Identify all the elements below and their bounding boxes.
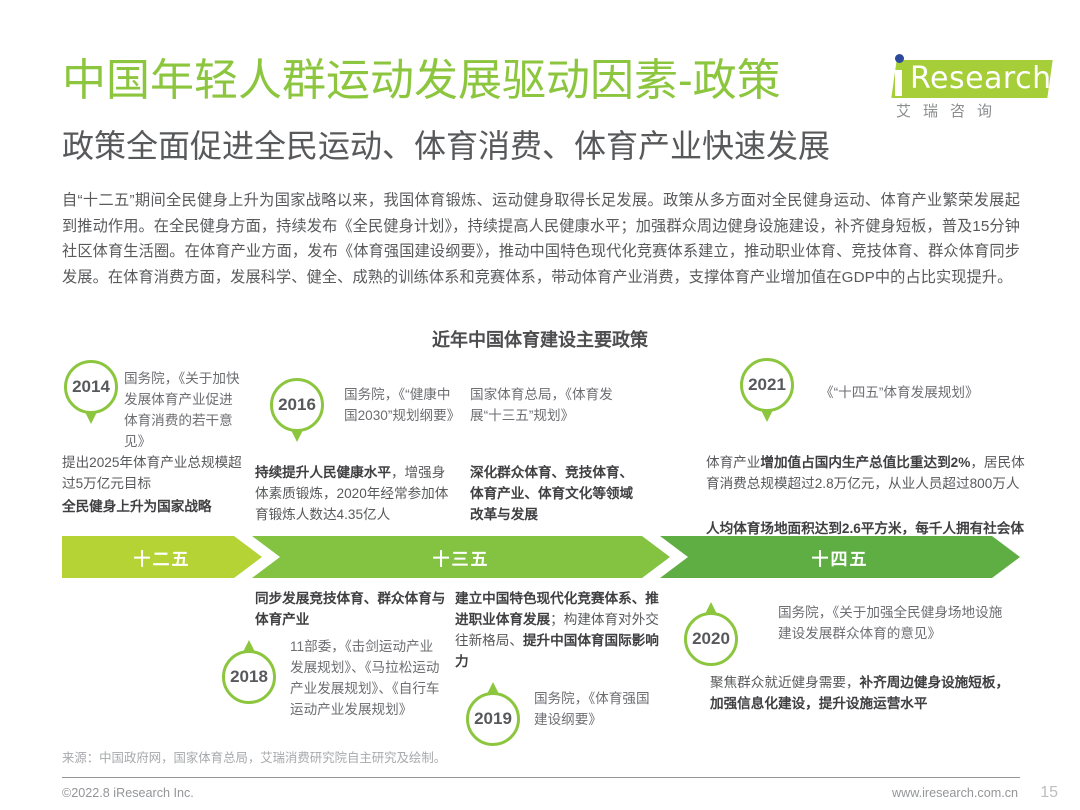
logo-i-stem [895, 70, 902, 96]
policy-note-2016-bold: 持续提升人民健康水平 [255, 465, 391, 480]
timeline-pin-2016: 2016 [270, 378, 324, 448]
pin-year-label: 2020 [684, 612, 738, 666]
policy-doc-2018: 11部委，《击剑运动产业发展规划》、《马拉松运动产业发展规划》、《自行车运动产业… [290, 636, 442, 720]
chart-title: 近年中国体育建设主要政策 [0, 326, 1080, 352]
copyright-text: ©2022.8 iResearch Inc. [62, 786, 194, 800]
policy-note-2019: 建立中国特色现代化竞赛体系、推进职业体育发展；构建体育对外交往新格局、提升中国体… [455, 588, 665, 672]
source-note: 来源：中国政府网，国家体育总局，艾瑞消费研究院自主研究及绘制。 [62, 748, 446, 766]
policy-note-2021-bold-1: 增加值占国内生产总值比重达到2% [760, 455, 970, 470]
policy-doc-2014: 国务院，《关于加快发展体育产业促进体育消费的若干意见》 [124, 368, 242, 452]
policy-note-2016: 持续提升人民健康水平，增强身体素质锻炼，2020年经常参加体育锻炼人数达4.35… [255, 462, 453, 525]
page-number: 15 [1040, 784, 1058, 802]
intro-paragraph: 自“十二五”期间全民健身上升为国家战略以来，我国体育锻炼、运动健身取得长足发展。… [62, 188, 1020, 290]
policy-note-2020: 聚焦群众就近健身需要，补齐周边健身设施短板，加强信息化建设，提升设施运营水平 [710, 672, 1010, 714]
policy-note-2014-bold: 全民健身上升为国家战略 [62, 496, 272, 517]
page-title: 中国年轻人群运动发展驱动因素-政策 [62, 54, 781, 108]
policy-note-2014-plain: 提出2025年体育产业总规模超过5万亿元目标 [62, 452, 252, 494]
website-url: www.iresearch.com.cn [892, 786, 1018, 800]
band-segment-13th: 十三五 [252, 536, 670, 578]
timeline-pin-2021: 2021 [740, 358, 794, 428]
policy-doc-2021: 《“十四五”体育发展规划》 [820, 382, 1050, 403]
iresearch-logo: Research 艾瑞咨询 [866, 50, 1052, 124]
band-segment-12th: 十二五 [62, 536, 262, 578]
pin-year-label: 2019 [466, 692, 520, 746]
pin-year-label: 2021 [740, 358, 794, 412]
pin-year-label: 2016 [270, 378, 324, 432]
pin-year-label: 2014 [64, 360, 118, 414]
timeline-band: 十二五 十三五 十四五 [62, 536, 1020, 578]
logo-dot-icon [895, 54, 904, 63]
policy-note-2020-plain: 聚焦群众就近健身需要， [710, 675, 860, 690]
policy-doc-2020: 国务院，《关于加强全民健身场地设施建设发展群众体育的意见》 [778, 602, 1006, 644]
pin-year-label: 2018 [222, 650, 276, 704]
timeline-pin-2019: 2019 [466, 676, 520, 746]
timeline-pin-2020: 2020 [684, 596, 738, 666]
logo-chinese-name: 艾瑞咨询 [896, 100, 1004, 121]
policy-note-sport-bureau: 深化群众体育、竞技体育、体育产业、体育文化等领域改革与发展 [470, 462, 645, 525]
policy-note-2021-plain-1: 体育产业 [706, 455, 760, 470]
footer-divider [62, 777, 1020, 778]
policy-note-2021-a: 体育产业增加值占国内生产总值比重达到2%，居民体育消费总规模超过2.8万亿元，从… [706, 452, 1026, 494]
slide-page: 中国年轻人群运动发展驱动因素-政策 政策全面促进全民运动、体育消费、体育产业快速… [0, 0, 1080, 810]
policy-doc-2019: 国务院，《体育强国建设纲要》 [534, 688, 652, 730]
timeline-pin-2018: 2018 [222, 634, 276, 704]
policy-doc-2016: 国务院，《“健康中国2030”规划纲要》 [344, 384, 462, 426]
page-subtitle: 政策全面促进全民运动、体育消费、体育产业快速发展 [62, 126, 830, 166]
logo-wordmark: Research [910, 62, 1052, 96]
band-segment-14th: 十四五 [660, 536, 1020, 578]
timeline-pin-2014: 2014 [64, 360, 118, 430]
policy-doc-sport-bureau: 国家体育总局，《体育发展“十三五”规划》 [470, 384, 630, 426]
policy-note-2018: 同步发展竞技体育、群众体育与体育产业 [255, 588, 455, 630]
